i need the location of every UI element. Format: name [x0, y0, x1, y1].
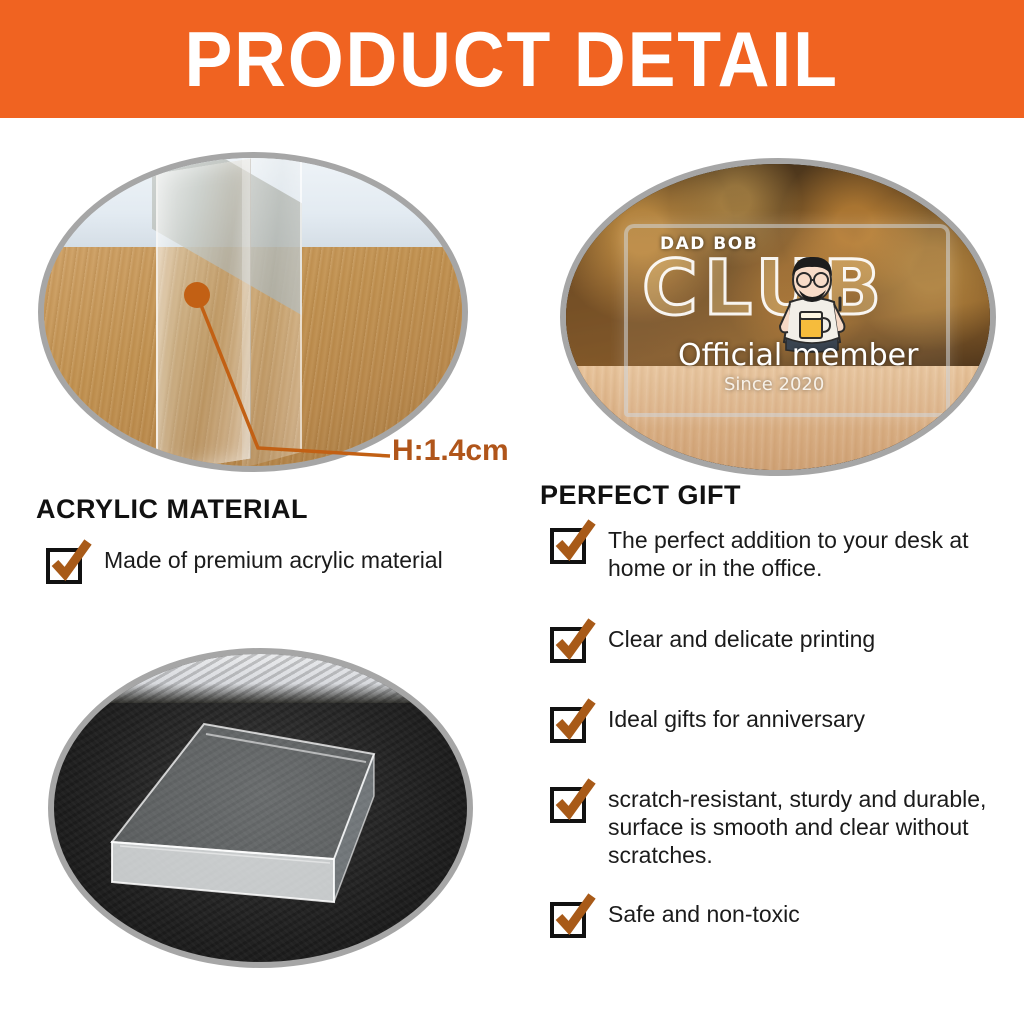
acrylic-block-shape	[54, 654, 473, 968]
acrylic-slab-front	[156, 158, 251, 472]
header-banner: PRODUCT DETAIL	[0, 0, 1024, 118]
plaque-artwork: DAD BOB CLUB	[628, 228, 946, 413]
product-photo-acrylic-edge	[38, 152, 468, 472]
logo-since-line: Since 2020	[724, 374, 824, 395]
list-item-label: Clear and delicate printing	[608, 625, 875, 653]
checkbox-checked-icon[interactable]	[550, 902, 586, 938]
checkbox-checked-icon[interactable]	[550, 627, 586, 663]
list-item-label: Ideal gifts for anniversary	[608, 705, 865, 733]
list-item: The perfect addition to your desk at hom…	[550, 526, 1005, 582]
list-item-label: Made of premium acrylic material	[104, 546, 443, 574]
list-item: Ideal gifts for anniversary	[550, 705, 1005, 743]
logo-sub-line: Official member	[678, 338, 918, 373]
section-title-acrylic-material: ACRYLIC MATERIAL	[36, 494, 308, 525]
list-item-label: The perfect addition to your desk at hom…	[608, 526, 1005, 582]
checkbox-checked-icon[interactable]	[550, 528, 586, 564]
section-title-perfect-gift: PERFECT GIFT	[540, 480, 741, 511]
product-photo-acrylic-block	[48, 648, 473, 968]
list-item: Clear and delicate printing	[550, 625, 1005, 663]
list-item-label: Safe and non-toxic	[608, 900, 800, 928]
product-photo-club-plaque: DAD BOB CLUB	[560, 158, 996, 476]
checkbox-checked-icon[interactable]	[550, 707, 586, 743]
list-item: scratch-resistant, sturdy and durable, s…	[550, 785, 1010, 869]
acrylic-slab-back	[242, 152, 302, 468]
dimension-label-height: H:1.4cm	[392, 434, 509, 468]
page-title: PRODUCT DETAIL	[185, 20, 839, 98]
list-item: Made of premium acrylic material	[46, 546, 516, 584]
checkbox-checked-icon[interactable]	[46, 548, 82, 584]
list-item: Safe and non-toxic	[550, 900, 1005, 938]
acrylic-plaque-body: DAD BOB CLUB	[624, 224, 950, 417]
checkbox-checked-icon[interactable]	[550, 787, 586, 823]
list-item-label: scratch-resistant, sturdy and durable, s…	[608, 785, 1010, 869]
